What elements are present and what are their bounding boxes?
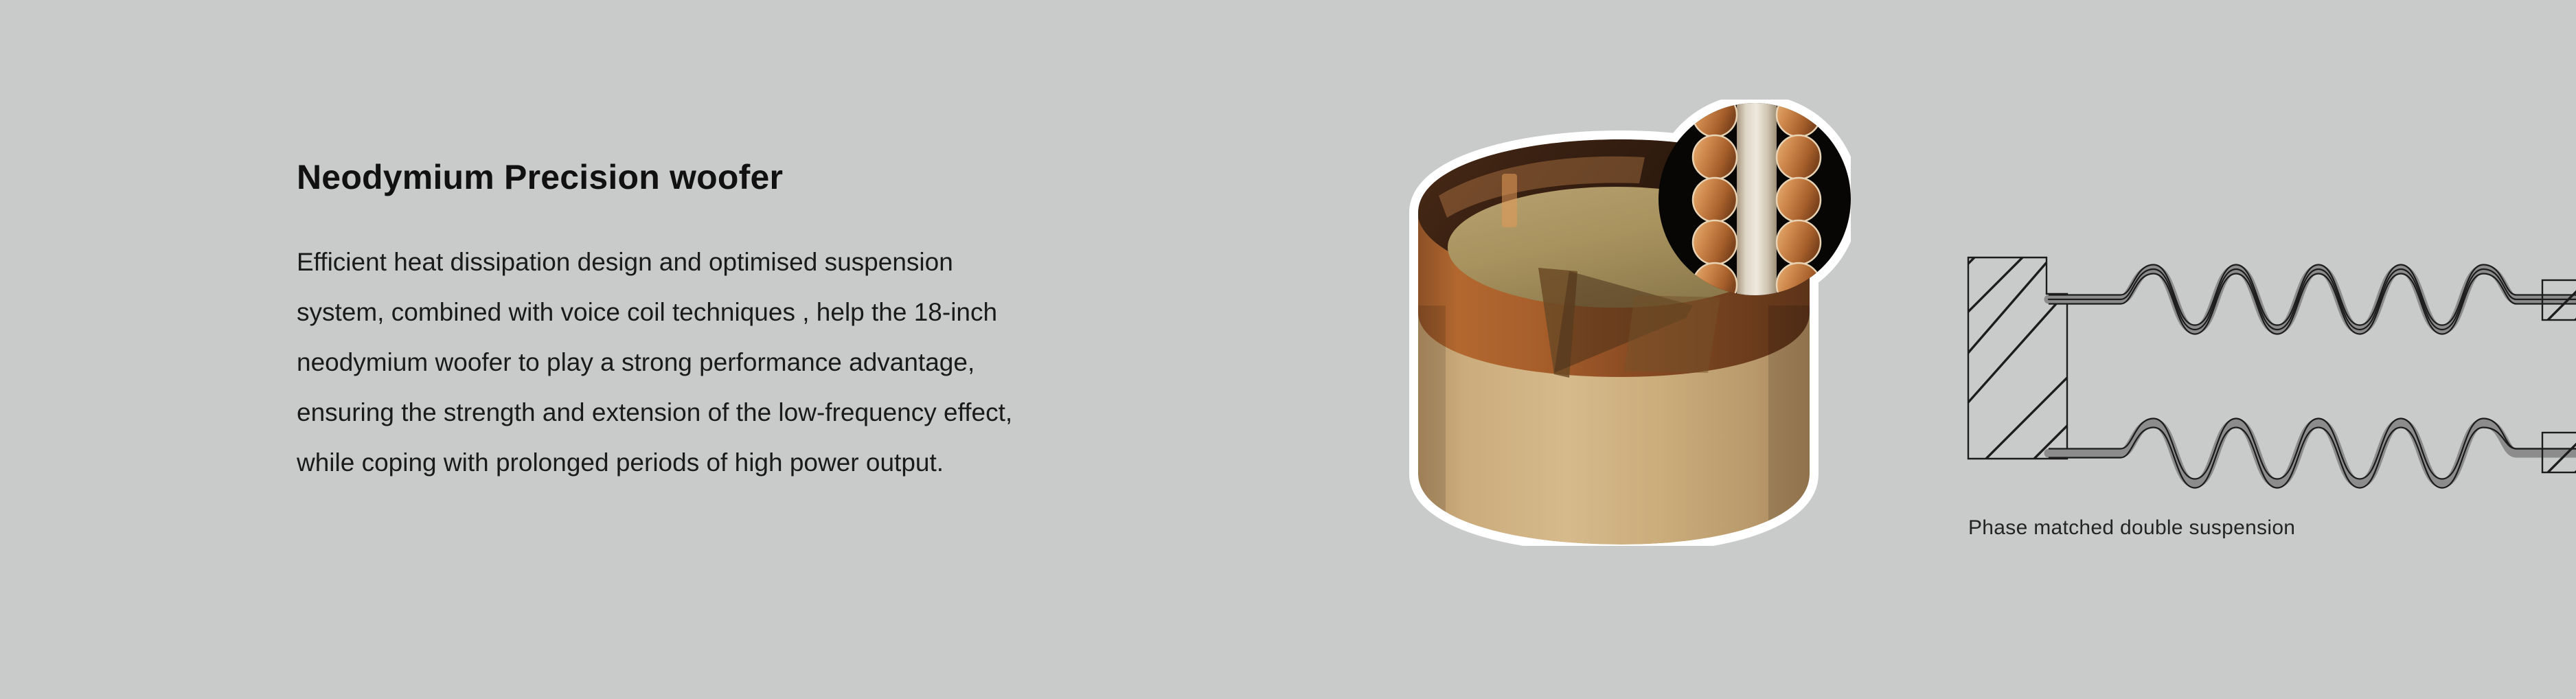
feature-description: Efficient heat dissipation design and op… [297,237,1313,488]
diagram-caption: Phase matched double suspension [1968,516,2295,540]
description-line: Efficient heat dissipation design and op… [297,237,1313,287]
lower-suspension-wave [2049,419,2576,488]
page-title: Neodymium Precision woofer [297,159,1313,196]
description-line: while coping with prolonged periods of h… [297,437,1313,488]
feature-text-block: Neodymium Precision woofer Efficient hea… [297,159,1313,488]
upper-suspension-wave [2049,265,2576,334]
description-line: system, combined with voice coil techniq… [297,287,1313,337]
voice-coil-product-image [1398,100,1851,546]
suspension-cross-section-diagram [1950,227,2576,501]
description-line: ensuring the strength and extension of t… [297,387,1313,437]
description-line: neodymium woofer to play a strong perfor… [297,337,1313,387]
